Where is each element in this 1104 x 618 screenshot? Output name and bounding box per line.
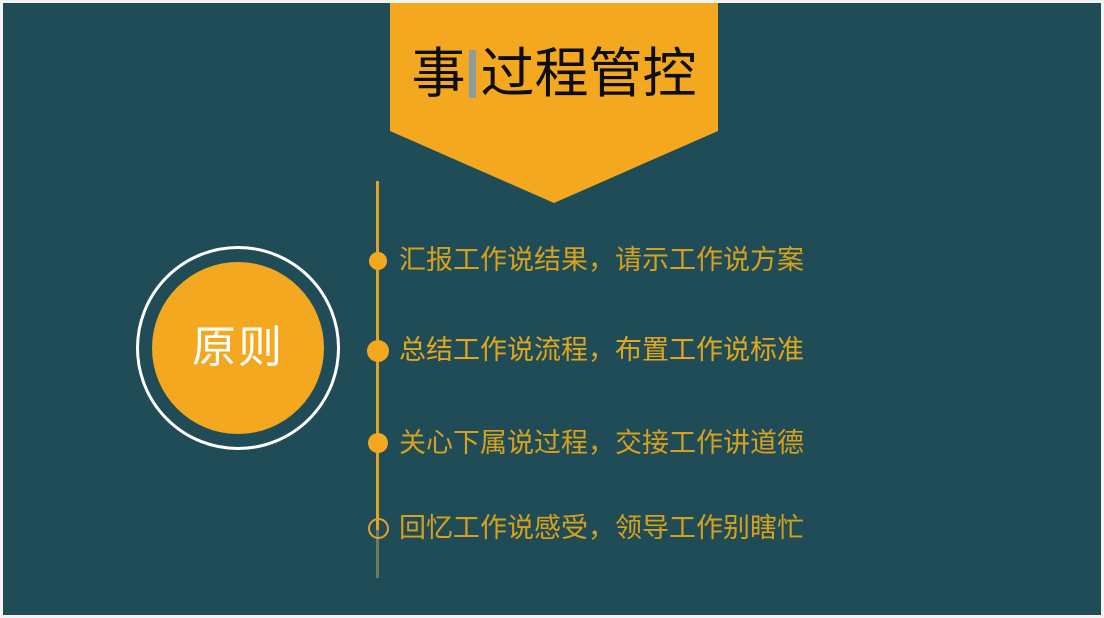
timeline-dot-icon-2 (367, 340, 389, 362)
principle-badge-disc: 原则 (152, 262, 324, 434)
title-rest-text: 过程管控 (481, 47, 697, 101)
timeline-hollow-dot-icon-4 (368, 518, 389, 539)
timeline-item-text-3: 关心下属说过程，交接工作讲道德 (399, 430, 804, 457)
slide-title: 事 过程管控 (390, 37, 718, 111)
vertical-bar-separator-icon (469, 50, 476, 98)
presentation-slide: 事 过程管控 原则 汇报工作说结果，请示工作说方案 总结工作说流程，布置工作说标… (0, 0, 1104, 618)
timeline-item-text-1: 汇报工作说结果，请示工作说方案 (399, 247, 804, 274)
timeline-item-text-2: 总结工作说流程，布置工作说标准 (399, 337, 804, 364)
timeline-dot-icon-3 (368, 433, 388, 453)
title-first-word: 事 (412, 47, 466, 101)
principle-badge-label: 原则 (192, 326, 284, 370)
timeline-item-text-4: 回忆工作说感受，领导工作别瞎忙 (399, 515, 804, 542)
timeline-dot-icon-1 (369, 252, 387, 270)
